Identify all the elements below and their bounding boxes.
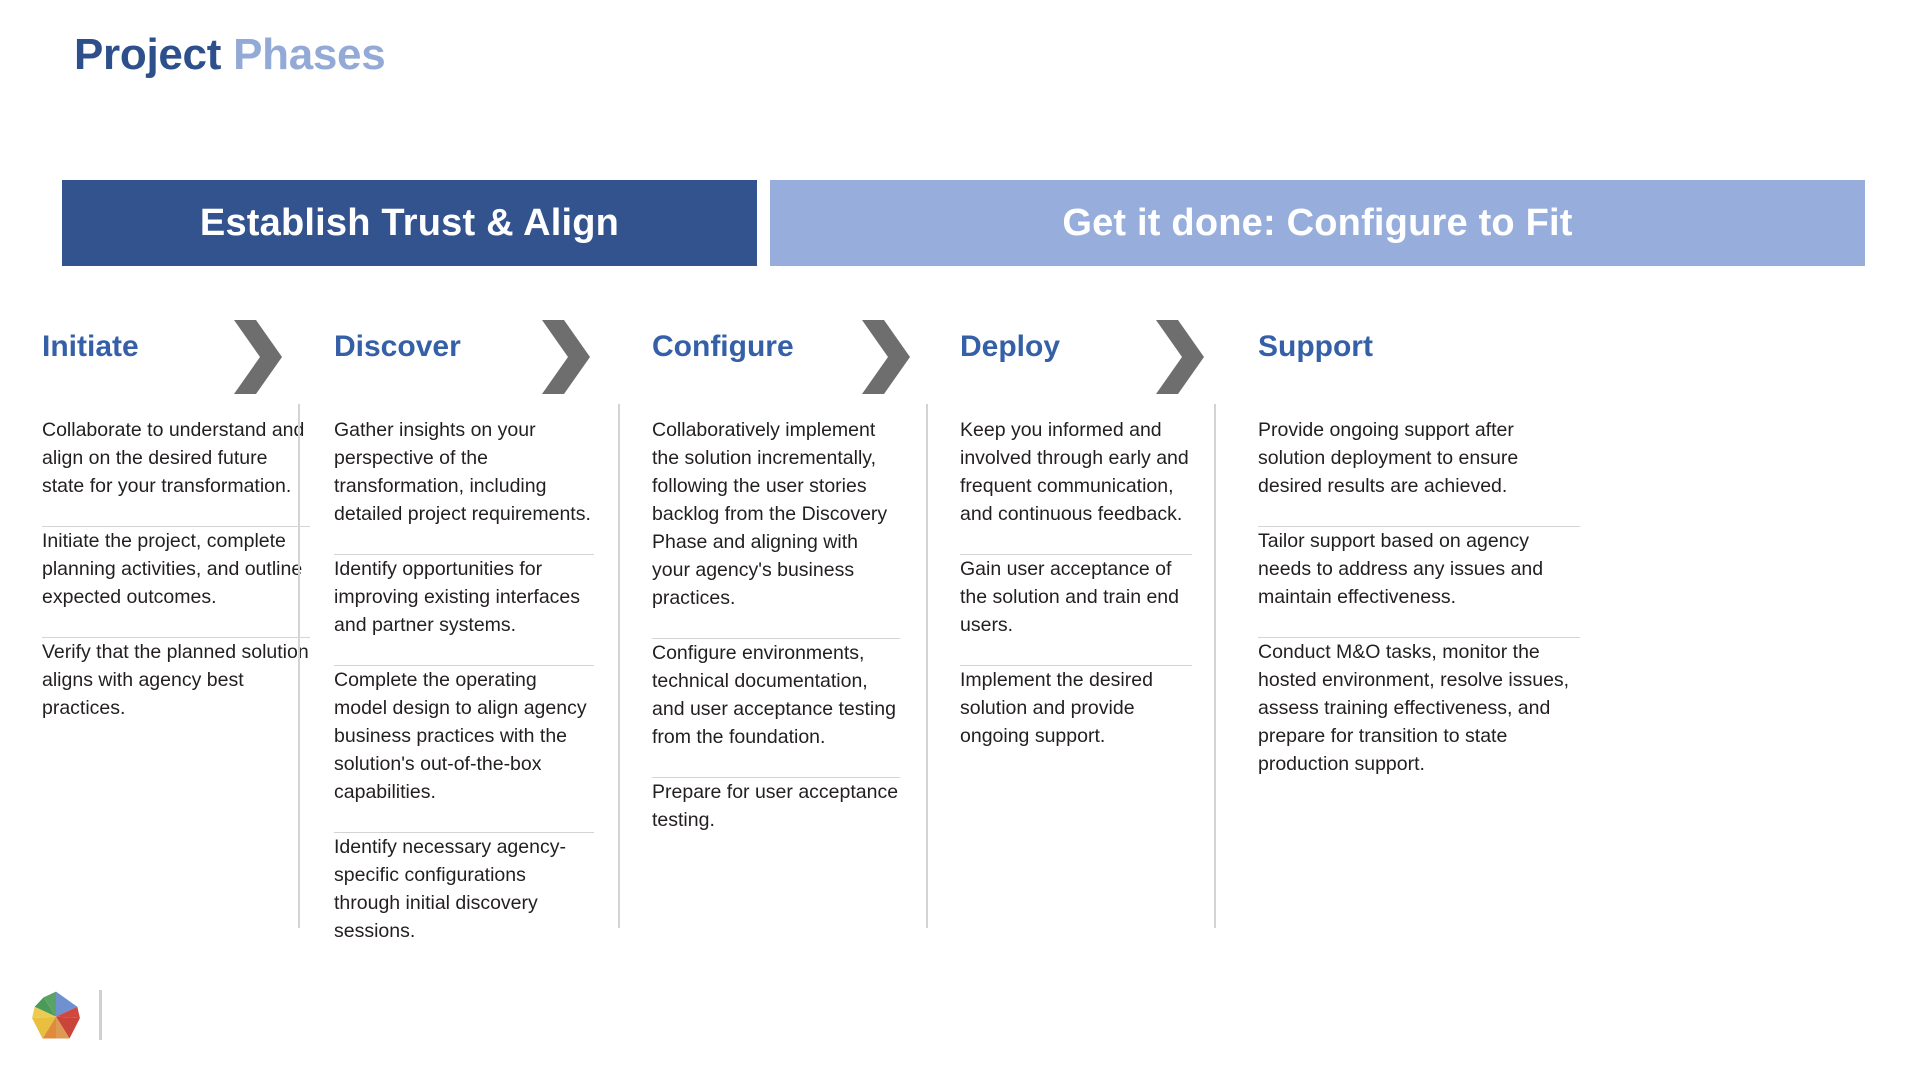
column-divider	[926, 404, 928, 928]
phase-header: Deploy	[926, 320, 1214, 404]
bullet-item: Identify necessary agency-specific confi…	[334, 833, 594, 971]
phase-title-support: Support	[1258, 330, 1373, 364]
bullet-item: Conduct M&O tasks, monitor the hosted en…	[1258, 638, 1580, 804]
bullet-item: Keep you informed and involved through e…	[960, 416, 1192, 554]
bullet-item: Collaboratively implement the solution i…	[652, 416, 900, 638]
phase-header: Initiate	[42, 320, 310, 404]
banner-label: Establish Trust & Align	[200, 202, 619, 245]
phase-header: Support	[1214, 320, 1554, 404]
phase-header: Configure	[618, 320, 926, 404]
bullet-item: Identify opportunities for improving exi…	[334, 555, 594, 665]
bullet-item: Collaborate to understand and align on t…	[42, 416, 310, 526]
bullet-item: Gain user acceptance of the solution and…	[960, 555, 1192, 665]
phase-title-discover: Discover	[334, 330, 461, 364]
bullet-item: Configure environments, technical docume…	[652, 639, 900, 777]
banner-get-it-done-configure-to-fit: Get it done: Configure to Fit	[770, 180, 1865, 266]
phase-title-deploy: Deploy	[960, 330, 1060, 364]
page-title-light: Phases	[233, 30, 385, 79]
page-title-strong: Project	[74, 30, 221, 79]
bullet-item: Implement the desired solution and provi…	[960, 666, 1192, 776]
phase-title-initiate: Initiate	[42, 330, 139, 364]
column-divider	[1214, 404, 1216, 928]
column-divider	[618, 404, 620, 928]
phase-bullets: Keep you informed and involved through e…	[960, 416, 1192, 776]
footer-divider	[99, 990, 102, 1040]
bullet-item: Complete the operating model design to a…	[334, 666, 594, 832]
pentagon-logo	[30, 988, 82, 1040]
phases-container: Initiate Collaborate to understand and a…	[0, 320, 1919, 960]
bullet-item: Prepare for user acceptance testing.	[652, 778, 900, 860]
bullet-item: Gather insights on your perspective of t…	[334, 416, 594, 554]
page-title: ProjectPhases	[74, 30, 385, 80]
chevron-right-icon	[538, 320, 594, 394]
chevron-right-icon	[858, 320, 914, 394]
phase-bullets: Collaboratively implement the solution i…	[652, 416, 900, 860]
banner-label: Get it done: Configure to Fit	[1062, 202, 1572, 245]
bullet-item: Initiate the project, complete planning …	[42, 527, 310, 637]
bullet-item: Provide ongoing support after solution d…	[1258, 416, 1580, 526]
bullet-item: Verify that the planned solution aligns …	[42, 638, 310, 748]
chevron-right-icon	[1152, 320, 1208, 394]
phase-bullets: Gather insights on your perspective of t…	[334, 416, 594, 971]
phase-bullets: Provide ongoing support after solution d…	[1258, 416, 1580, 804]
chevron-right-icon	[230, 320, 286, 394]
phase-title-configure: Configure	[652, 330, 794, 364]
banner-establish-trust-align: Establish Trust & Align	[62, 180, 757, 266]
column-divider	[298, 404, 300, 928]
bullet-item: Tailor support based on agency needs to …	[1258, 527, 1580, 637]
phase-bullets: Collaborate to understand and align on t…	[42, 416, 310, 748]
phase-header: Discover	[298, 320, 608, 404]
